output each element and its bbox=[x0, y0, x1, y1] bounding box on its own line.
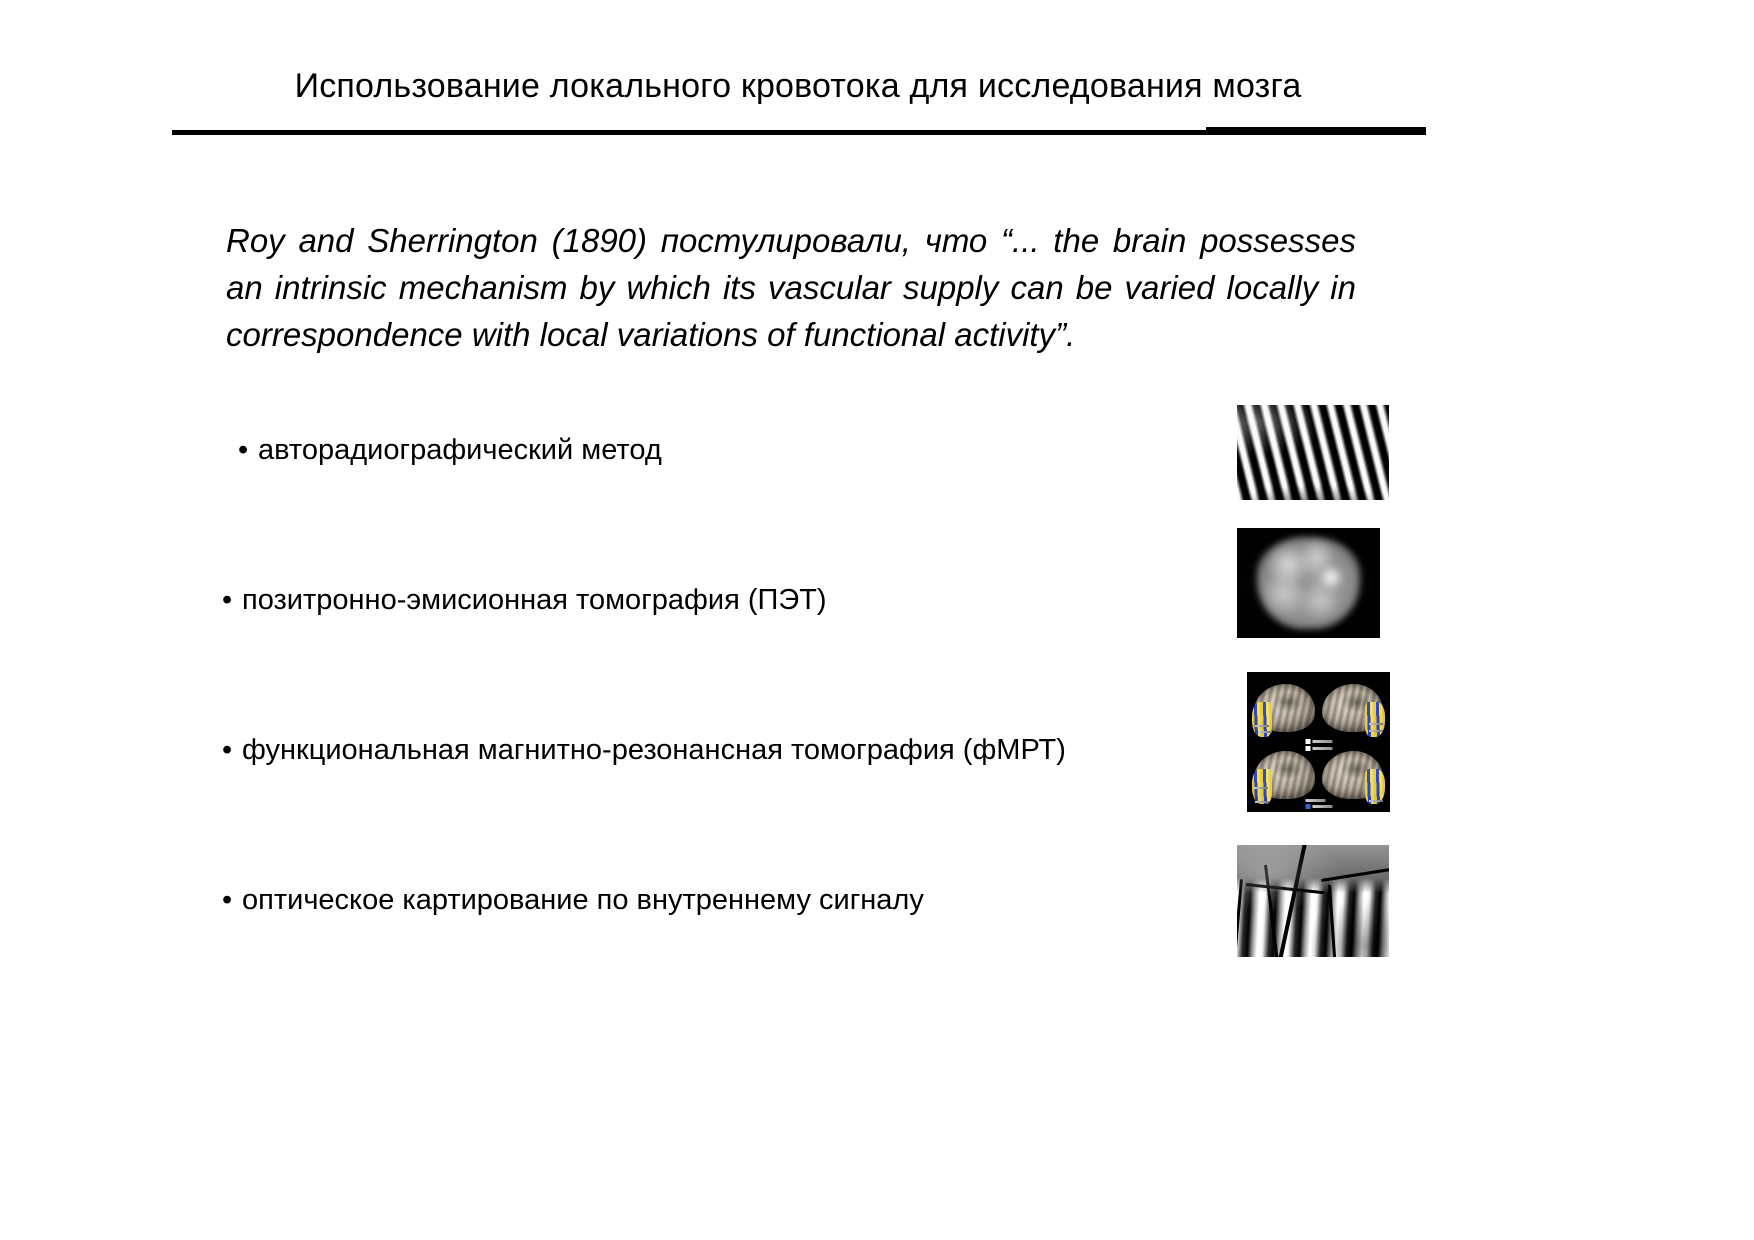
legend-entry-label bbox=[1312, 805, 1332, 808]
fmri-brain-maps-image bbox=[1247, 672, 1390, 812]
list-item-label: авторадиографический метод bbox=[258, 434, 662, 466]
annotation-label bbox=[1369, 723, 1383, 725]
annotation-label bbox=[1255, 725, 1269, 727]
title-divider-accent bbox=[1206, 127, 1426, 130]
legend-entry bbox=[1305, 746, 1332, 751]
illumination-gradient bbox=[1237, 845, 1389, 957]
quote-text: Roy and Sherrington (1890) постулировали… bbox=[226, 222, 1356, 353]
title-divider bbox=[172, 130, 1426, 135]
fmri-panel-top-right bbox=[1320, 676, 1387, 741]
annotation-label bbox=[1254, 787, 1268, 789]
fmri-panel-top-left bbox=[1251, 676, 1318, 741]
method-list: •авторадиографический метод •позитронно-… bbox=[222, 432, 1222, 1032]
legend-entry-label bbox=[1312, 740, 1332, 743]
annotation-label bbox=[1258, 731, 1272, 733]
optical-imaging-stripes-image bbox=[1237, 845, 1389, 957]
legend-entry bbox=[1305, 739, 1332, 744]
annotation-label bbox=[1369, 800, 1383, 802]
legend-entry-label bbox=[1312, 747, 1332, 750]
annotation-label bbox=[1255, 801, 1269, 803]
list-item[interactable]: •оптическое картирование по внутреннему … bbox=[222, 882, 1222, 1032]
legend-entry-label bbox=[1305, 799, 1325, 802]
list-item[interactable]: •авторадиографический метод bbox=[222, 432, 1222, 582]
bullet-marker-icon: • bbox=[238, 432, 258, 470]
fmri-legend-upper bbox=[1305, 739, 1332, 751]
quote-paragraph: Roy and Sherrington (1890) постулировали… bbox=[226, 218, 1356, 359]
page-title: Использование локального кровотока для и… bbox=[170, 66, 1426, 107]
pet-scan-image bbox=[1237, 528, 1380, 638]
list-item-label: оптическое картирование по внутреннему с… bbox=[242, 884, 924, 916]
legend-swatch-icon bbox=[1305, 804, 1310, 809]
list-item-label: функциональная магнитно-резонансная томо… bbox=[242, 734, 1066, 766]
annotation-label bbox=[1369, 730, 1383, 732]
bullet-marker-icon: • bbox=[222, 882, 242, 920]
legend-entry bbox=[1305, 799, 1332, 802]
list-item[interactable]: •функциональная магнитно-резонансная том… bbox=[222, 732, 1222, 882]
fmri-legend-lower bbox=[1305, 799, 1332, 809]
legend-entry bbox=[1305, 804, 1332, 809]
list-item[interactable]: •позитронно-эмисионная томография (ПЭТ) bbox=[222, 582, 1222, 732]
pet-brain-slice bbox=[1257, 537, 1360, 629]
legend-swatch-icon bbox=[1305, 739, 1310, 744]
list-item-label: позитронно-эмисионная томография (ПЭТ) bbox=[242, 584, 827, 616]
legend-swatch-icon bbox=[1305, 746, 1310, 751]
bullet-marker-icon: • bbox=[222, 582, 242, 620]
autoradiography-image bbox=[1237, 405, 1389, 500]
bullet-marker-icon: • bbox=[222, 732, 242, 770]
